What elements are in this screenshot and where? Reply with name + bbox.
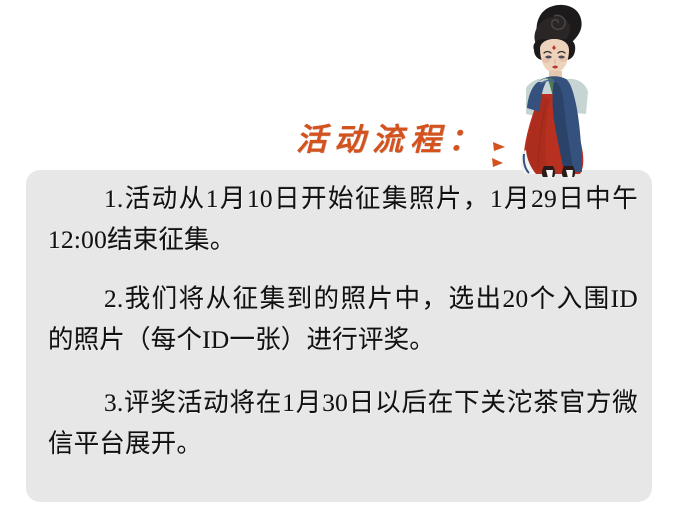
paragraph-item-1: 1.活动从1月10日开始征集照片，1月29日中午12:00结束征集。	[48, 178, 638, 260]
page-title: 活动流程：	[296, 114, 486, 159]
tang-dynasty-lady-illustration	[496, 2, 608, 180]
presentation-slide: 活动流程：	[0, 0, 680, 529]
paragraph-item-3: 3.评奖活动将在1月30日以后在下关沱茶官方微信平台展开。	[48, 382, 638, 464]
content-body: 1.活动从1月10日开始征集照片，1月29日中午12:00结束征集。 2.我们将…	[48, 178, 638, 464]
lady-figure-icon	[496, 2, 608, 180]
paragraph-item-2: 2.我们将从征集到的照片中，选出20个入围ID的照片（每个ID一张）进行评奖。	[48, 278, 638, 360]
content-panel: 1.活动从1月10日开始征集照片，1月29日中午12:00结束征集。 2.我们将…	[26, 170, 652, 502]
